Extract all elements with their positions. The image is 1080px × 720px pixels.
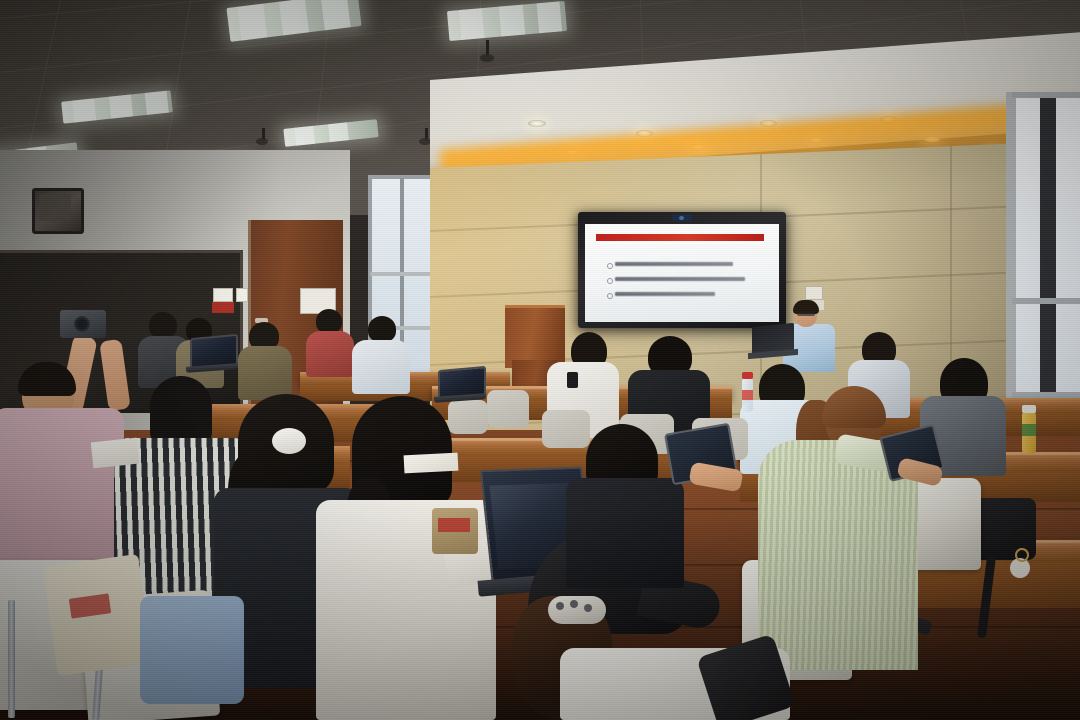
bottle-label [1022,424,1036,436]
window-guard-rail [370,272,432,276]
right-window-bar [1012,92,1080,98]
camera-lens-icon [74,316,90,332]
chair-back[interactable] [542,410,590,448]
slide-text-line [615,292,715,296]
chair-leg [8,600,15,718]
wall-notice [236,288,248,302]
slide-bullet-icon [607,263,613,269]
ceiling-speaker [480,54,494,62]
camera-lens-icon [679,216,684,220]
tee-letter-graphic [567,372,578,388]
bag-charm-ring [1015,548,1029,562]
slide-text-line [615,262,733,266]
lectern [505,305,565,368]
wall-clock-face [39,194,71,221]
slide-bullet-icon [607,293,613,299]
slide-bullet-icon [607,278,613,284]
chair-back[interactable] [487,390,529,428]
papers [404,453,459,474]
slide-red-banner [596,234,764,241]
bottle-cap [742,372,753,379]
wall-outlet [805,286,823,300]
bottle-label [742,390,753,400]
wall-notice-red [212,302,234,313]
attendee-body [566,478,684,588]
attendee-body [0,408,124,578]
right-window-bar [1012,298,1080,304]
slide-text-line [615,277,745,281]
hair-clip-stud [570,600,578,608]
tote-bag[interactable] [43,554,153,676]
notebook[interactable] [91,438,139,469]
hair-scrunchie [272,428,306,454]
hair-clip-stud [584,604,592,612]
bottle-cap [1022,405,1036,413]
hair-clip-stud [556,602,564,610]
recessed-downlight [528,120,546,127]
attendee-hair [368,316,396,342]
jacket-on-chair [140,596,244,704]
attendee-hair [316,309,342,333]
hair-clip [548,596,606,624]
slide-banner-highlight [596,241,764,244]
attendee-body [306,331,354,377]
attendee-body [352,340,410,394]
wall-notice [213,288,233,302]
attendee-hair [149,312,177,338]
glasses-icon [797,312,815,316]
attendee-hair [150,376,212,446]
chair-back[interactable] [448,400,488,434]
ceiling-speaker [256,138,268,145]
tote-bag-label [438,518,470,532]
photo-scene [0,0,1080,720]
attendee-body [238,346,292,400]
